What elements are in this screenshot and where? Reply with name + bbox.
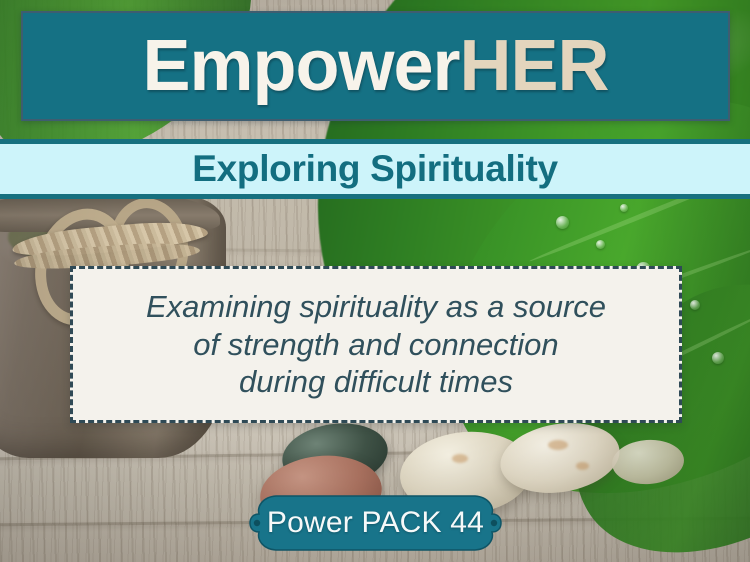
brand-title: EmpowerHER <box>142 30 608 102</box>
power-pack-badge[interactable]: Power PACK 44 <box>232 489 519 557</box>
brand-title-primary: Empower <box>142 26 459 106</box>
title-banner: EmpowerHER <box>21 11 730 121</box>
brand-title-secondary: HER <box>460 26 609 106</box>
subtitle-text: Exploring Spirituality <box>192 148 558 190</box>
badge-tag-shape <box>232 489 519 557</box>
description-box: Examining spirituality as a source of st… <box>70 266 682 423</box>
description-text: Examining spirituality as a source of st… <box>146 288 606 401</box>
subtitle-bar: Exploring Spirituality <box>0 139 750 199</box>
slide-canvas: EmpowerHER Exploring Spirituality Examin… <box>0 0 750 562</box>
